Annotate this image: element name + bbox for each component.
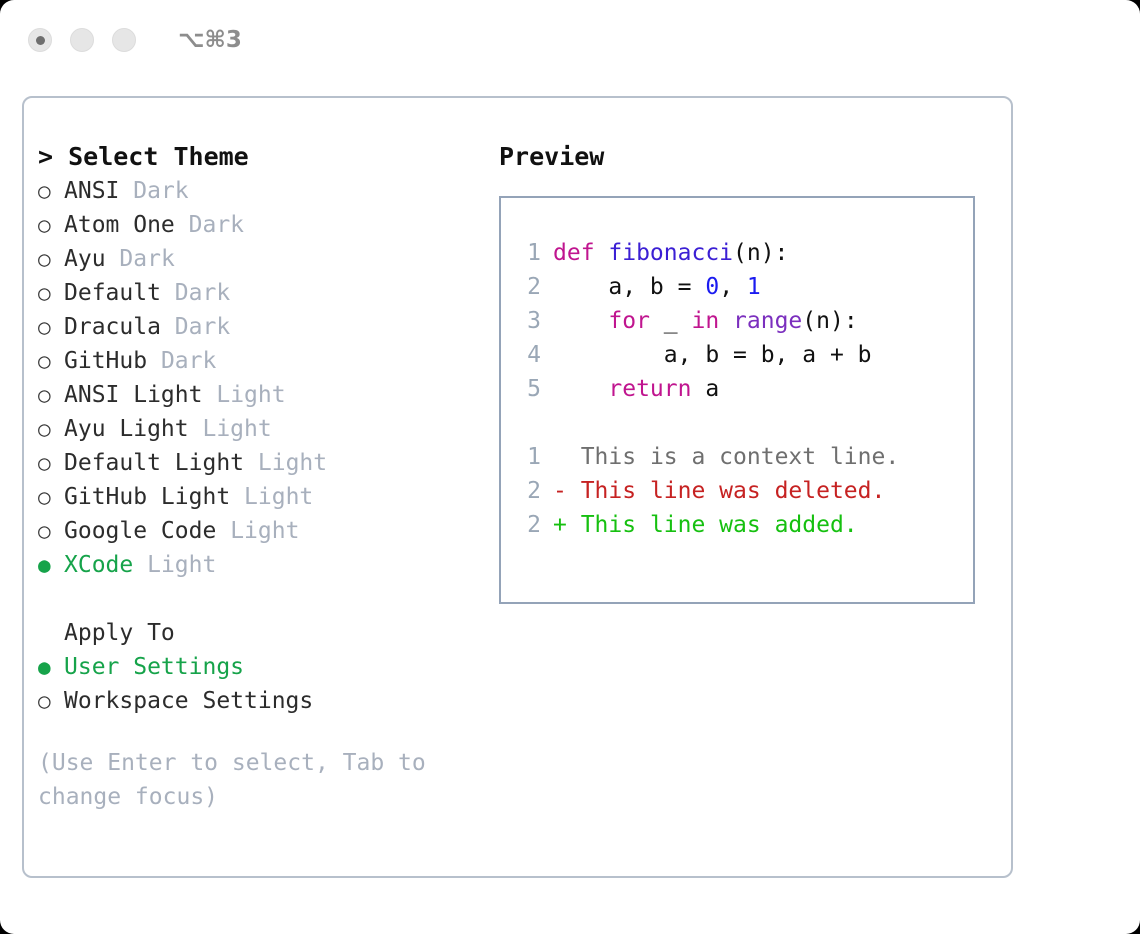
code-token: a, b = [553,274,705,300]
code-token [553,376,608,402]
theme-option-variant: Light [230,518,299,544]
main-panel: > Select Theme ○ANSI Dark○Atom One Dark○… [22,96,1013,878]
code-token: a, b = b, a + b [553,342,872,368]
select-theme-header: > Select Theme [38,140,488,174]
line-number: 5 [515,372,541,406]
code-line: 3 for _ in range(n): [501,304,973,338]
code-token: _ [650,308,692,334]
code-diff-spacer [501,406,973,440]
theme-option[interactable]: ○ANSI Dark [38,174,488,208]
theme-option-variant: Light [147,552,216,578]
code-preview-box: 1def fibonacci(n):2 a, b = 0, 13 for _ i… [499,196,975,604]
theme-option-gap [189,416,203,442]
diff-marker: - [553,478,581,504]
theme-option[interactable]: ○ANSI Light Light [38,378,488,412]
apply-to-option-label: Workspace Settings [64,688,313,714]
line-number: 1 [515,440,541,474]
radio-unselected-icon: ○ [38,514,64,548]
radio-unselected-icon: ○ [38,480,64,514]
theme-option-gap [161,314,175,340]
theme-option-name: Default Light [64,450,244,476]
radio-unselected-icon: ○ [38,242,64,276]
diff-text: This is a context line. [581,444,900,470]
code-token: in [691,308,719,334]
theme-option-variant: Light [216,382,285,408]
code-line: 1def fibonacci(n): [501,236,973,270]
theme-option-variant: Dark [133,178,188,204]
apply-to-header-label: Apply To [64,620,175,646]
line-number: 3 [515,304,541,338]
theme-option-variant: Dark [175,280,230,306]
apply-to-option-label: User Settings [64,654,244,680]
theme-option-name: Atom One [64,212,175,238]
apply-to-marker-spacer: ○ [38,616,64,650]
code-token: (n): [802,308,857,334]
theme-option-name: Ayu Light [64,416,189,442]
theme-option-gap [175,212,189,238]
apply-to-option[interactable]: ○Workspace Settings [38,684,488,718]
apply-to-list: ●User Settings○Workspace Settings [38,650,488,718]
theme-option[interactable]: ○Default Light Light [38,446,488,480]
theme-selector-column: > Select Theme ○ANSI Dark○Atom One Dark○… [38,140,488,814]
theme-option-name: ANSI [64,178,119,204]
theme-option-gap [244,450,258,476]
radio-selected-icon: ● [38,548,64,582]
code-token: for [608,308,650,334]
theme-option-gap [147,348,161,374]
code-token: 1 [747,274,761,300]
apply-to-header: ○Apply To [38,616,488,650]
theme-option-gap [119,178,133,204]
line-number: 1 [515,236,541,270]
code-token [719,308,733,334]
theme-option[interactable]: ○GitHub Light Light [38,480,488,514]
theme-option[interactable]: ○Dracula Dark [38,310,488,344]
theme-option[interactable]: ○Ayu Dark [38,242,488,276]
code-token: a [691,376,719,402]
keyboard-hint: (Use Enter to select, Tab to change focu… [38,746,448,814]
code-token: , [719,274,747,300]
diff-line: 2+ This line was added. [501,508,973,542]
keyboard-shortcut-label: ⌥⌘3 [178,27,242,53]
radio-unselected-icon: ○ [38,446,64,480]
diff-text: This line was deleted. [581,478,886,504]
title-bar: ⌥⌘3 [0,0,1140,80]
theme-list: ○ANSI Dark○Atom One Dark○Ayu Dark○Defaul… [38,174,488,582]
theme-option-name: Google Code [64,518,216,544]
theme-option-name: Ayu [64,246,106,272]
radio-unselected-icon: ○ [38,412,64,446]
theme-option-gap [230,484,244,510]
radio-unselected-icon: ○ [38,684,64,718]
theme-option-name: GitHub [64,348,147,374]
window-dot-second[interactable] [70,28,94,52]
dot-indicator-icon [36,36,45,45]
theme-option[interactable]: ○Google Code Light [38,514,488,548]
radio-unselected-icon: ○ [38,208,64,242]
list-spacer [38,582,488,616]
diff-line: 1 This is a context line. [501,440,973,474]
theme-option[interactable]: ○Atom One Dark [38,208,488,242]
theme-option-gap [216,518,230,544]
code-token: fibonacci [608,240,733,266]
theme-option[interactable]: ●XCode Light [38,548,488,582]
code-token: 0 [705,274,719,300]
code-token [553,308,608,334]
theme-option-variant: Light [258,450,327,476]
theme-option-variant: Light [202,416,271,442]
theme-option-gap [106,246,120,272]
theme-option-variant: Dark [119,246,174,272]
preview-title: Preview [499,140,999,174]
window-controls [28,28,136,52]
apply-to-option[interactable]: ●User Settings [38,650,488,684]
theme-option[interactable]: ○GitHub Dark [38,344,488,378]
theme-option-gap [202,382,216,408]
theme-option[interactable]: ○Default Dark [38,276,488,310]
radio-unselected-icon: ○ [38,310,64,344]
diff-line: 2- This line was deleted. [501,474,973,508]
code-line: 5 return a [501,372,973,406]
theme-option-variant: Dark [161,348,216,374]
radio-unselected-icon: ○ [38,344,64,378]
diff-marker: + [553,512,581,538]
radio-unselected-icon: ○ [38,276,64,310]
code-token: range [733,308,802,334]
code-token: return [608,376,691,402]
diff-sample: 1 This is a context line.2- This line wa… [501,440,973,542]
code-token: (n): [733,240,788,266]
theme-option-variant: Light [244,484,313,510]
window-dot-focused[interactable] [28,28,52,52]
code-token: def [553,240,608,266]
preview-column: Preview 1def fibonacci(n):2 a, b = 0, 13… [499,140,999,604]
window-dot-third[interactable] [112,28,136,52]
radio-unselected-icon: ○ [38,174,64,208]
radio-unselected-icon: ○ [38,378,64,412]
theme-option-name: Dracula [64,314,161,340]
line-number: 2 [515,474,541,508]
code-sample: 1def fibonacci(n):2 a, b = 0, 13 for _ i… [501,236,973,406]
code-line: 4 a, b = b, a + b [501,338,973,372]
theme-option[interactable]: ○Ayu Light Light [38,412,488,446]
theme-option-gap [133,552,147,578]
code-line: 2 a, b = 0, 1 [501,270,973,304]
diff-text: This line was added. [581,512,858,538]
theme-option-name: ANSI Light [64,382,202,408]
app-window: ⌥⌘3 > Select Theme ○ANSI Dark○Atom One D… [0,0,1140,934]
theme-option-name: GitHub Light [64,484,230,510]
line-number: 2 [515,270,541,304]
theme-option-name: Default [64,280,161,306]
theme-option-variant: Dark [175,314,230,340]
theme-option-variant: Dark [189,212,244,238]
theme-option-name: XCode [64,552,133,578]
diff-marker [553,444,581,470]
panel-columns: > Select Theme ○ANSI Dark○Atom One Dark○… [24,98,1011,876]
radio-selected-icon: ● [38,650,64,684]
line-number: 2 [515,508,541,542]
theme-option-gap [161,280,175,306]
line-number: 4 [515,338,541,372]
